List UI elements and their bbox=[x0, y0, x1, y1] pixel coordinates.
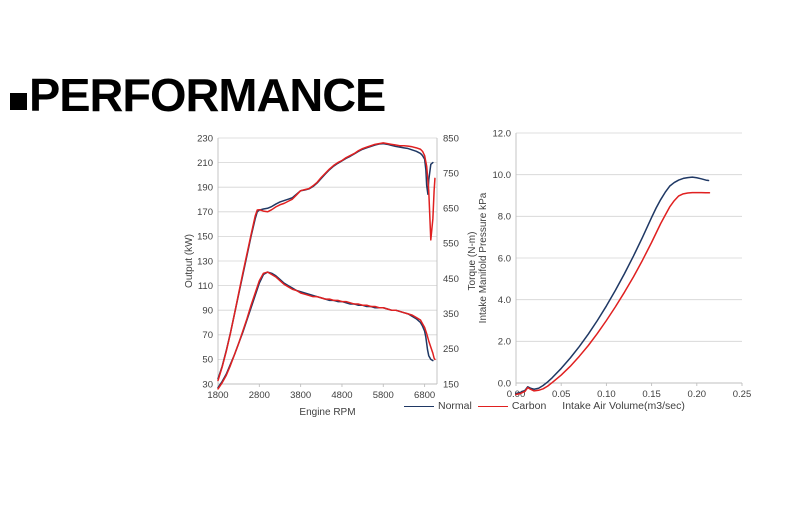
y2-tick-label: 150 bbox=[443, 379, 459, 390]
y2-tick-label: 350 bbox=[443, 309, 459, 320]
x-tick-label: 0.05 bbox=[552, 389, 571, 400]
y2-tick-label: 550 bbox=[443, 239, 459, 250]
intake-manifold-pressure-svg: 0.02.04.06.08.010.012.00.000.050.100.150… bbox=[470, 118, 755, 418]
intake-air-volume-axis-label: Intake Air Volume(m3/sec) bbox=[562, 400, 685, 412]
series-normal-output bbox=[218, 272, 433, 388]
x-tick-label: 0.15 bbox=[642, 389, 661, 400]
y-tick-label: 30 bbox=[202, 379, 213, 390]
chart-legend: Normal Carbon Intake Air Volume(m3/sec) bbox=[404, 400, 685, 412]
y-tick-label: 130 bbox=[197, 256, 213, 267]
legend-swatch-carbon-icon bbox=[478, 406, 508, 407]
y-tick-label: 12.0 bbox=[493, 128, 512, 139]
page-title: PERFORMANCE bbox=[10, 72, 378, 118]
x-tick-label: 2800 bbox=[249, 390, 270, 401]
x-axis-title: Engine RPM bbox=[299, 407, 355, 418]
x-tick-label: 0.10 bbox=[597, 389, 616, 400]
y-tick-label: 150 bbox=[197, 232, 213, 243]
series-carbon-output bbox=[218, 272, 435, 389]
y-tick-label: 8.0 bbox=[498, 212, 511, 223]
y-tick-label: 0.0 bbox=[498, 378, 511, 389]
y2-tick-label: 250 bbox=[443, 344, 459, 355]
y-tick-label: 170 bbox=[197, 207, 213, 218]
y2-tick-label: 850 bbox=[443, 133, 459, 144]
y2-tick-label: 450 bbox=[443, 274, 459, 285]
legend-item-carbon: Carbon bbox=[478, 400, 546, 412]
y-axis-title: Intake Manifold Pressure kPa bbox=[478, 192, 489, 323]
y2-tick-label: 750 bbox=[443, 168, 459, 179]
legend-swatch-normal-icon bbox=[404, 406, 434, 407]
x-tick-label: 1800 bbox=[207, 390, 228, 401]
legend-item-normal: Normal bbox=[404, 400, 472, 412]
y-tick-label: 50 bbox=[202, 355, 213, 366]
x-tick-label: 0.25 bbox=[733, 389, 752, 400]
series-normal-pressure bbox=[516, 177, 709, 393]
engine-performance-chart: 3050709011013015017019021023015025035045… bbox=[178, 118, 478, 418]
y-tick-label: 70 bbox=[202, 330, 213, 341]
x-tick-label: 5800 bbox=[373, 390, 394, 401]
y-tick-label: 6.0 bbox=[498, 253, 511, 264]
slide-canvas: PERFORMANCE 3050709011013015017019021023… bbox=[0, 0, 800, 529]
intake-manifold-pressure-chart: 0.02.04.06.08.010.012.00.000.050.100.150… bbox=[470, 118, 755, 418]
x-tick-label: 4800 bbox=[331, 390, 352, 401]
y-tick-label: 10.0 bbox=[493, 170, 512, 181]
title-bullet-icon bbox=[10, 93, 27, 110]
engine-performance-svg: 3050709011013015017019021023015025035045… bbox=[178, 118, 478, 418]
series-carbon-torque bbox=[218, 143, 435, 381]
x-tick-label: 0.20 bbox=[688, 389, 707, 400]
y-tick-label: 230 bbox=[197, 133, 213, 144]
y-axis-title: Output (kW) bbox=[184, 234, 195, 288]
y-tick-label: 4.0 bbox=[498, 295, 511, 306]
x-tick-label: 3800 bbox=[290, 390, 311, 401]
y-tick-label: 90 bbox=[202, 306, 213, 317]
y-tick-label: 190 bbox=[197, 183, 213, 194]
legend-label-carbon: Carbon bbox=[512, 400, 546, 412]
page-title-text: PERFORMANCE bbox=[29, 72, 385, 118]
y2-tick-label: 650 bbox=[443, 204, 459, 215]
y-tick-label: 110 bbox=[198, 281, 213, 292]
y-tick-label: 210 bbox=[197, 158, 213, 169]
legend-label-normal: Normal bbox=[438, 400, 472, 412]
y-tick-label: 2.0 bbox=[498, 337, 511, 348]
